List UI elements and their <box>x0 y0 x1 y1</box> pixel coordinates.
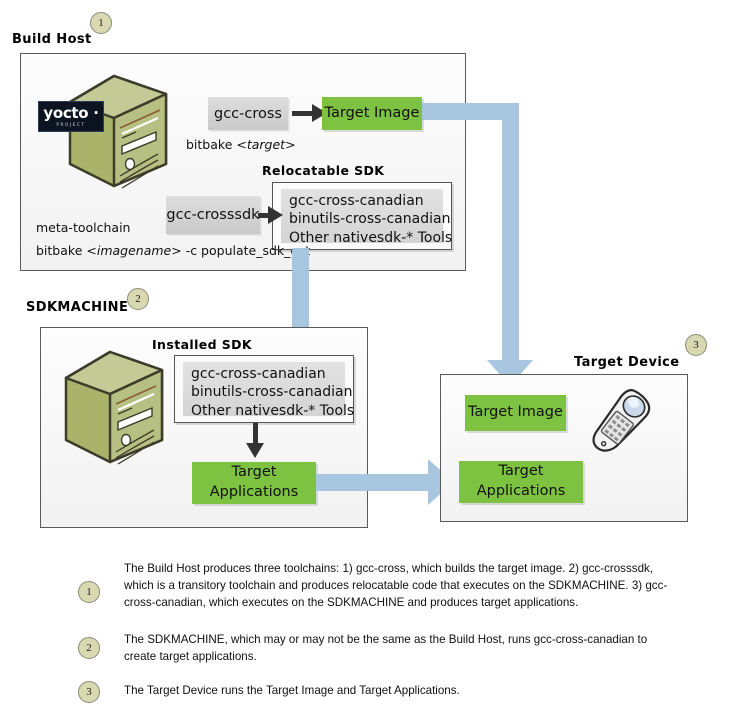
target-image-box-device[interactable]: Target Image <box>465 395 566 431</box>
sdkmachine-badge: 2 <box>127 288 149 310</box>
installed-sdk-line-1: gcc-cross-canadian <box>191 365 337 383</box>
relocatable-sdk-title: Relocatable SDK <box>262 163 384 178</box>
installed-sdk-line-2: binutils-cross-canadian <box>191 383 337 401</box>
target-applications-sdkmachine-line2: Applications <box>210 483 299 503</box>
installed-sdk-title: Installed SDK <box>152 337 252 352</box>
bitbake-sdk-italic: <imagename> <box>86 243 181 258</box>
sdkmachine-title: SDKMACHINE <box>26 300 128 315</box>
note-badge-3: 3 <box>78 681 100 703</box>
diagram-canvas: Build Host 1 yocto · PROJECT gcc-cross T… <box>0 0 730 723</box>
bitbake-sdk-label: bitbake <imagename> -c populate_sdk_ext <box>36 243 310 258</box>
bitbake-sdk-prefix: bitbake <box>36 243 86 258</box>
bitbake-target-prefix: bitbake <box>186 137 236 152</box>
bitbake-target-label: bitbake <target> <box>186 137 296 152</box>
arrow-installed-sdk-head <box>246 443 264 458</box>
target-device-badge: 3 <box>685 334 707 356</box>
build-host-badge: 1 <box>90 12 112 34</box>
mobile-phone-icon <box>578 386 662 466</box>
yocto-project-logo: yocto · PROJECT <box>38 101 104 132</box>
target-image-box-build-host[interactable]: Target Image <box>322 97 422 130</box>
blue-arrow-target-apps-shaft <box>316 474 431 491</box>
note-text-3: The Target Device runs the Target Image … <box>124 683 670 700</box>
target-device-title: Target Device <box>574 355 680 370</box>
note-badge-1: 1 <box>78 581 100 603</box>
yocto-logo-main: yocto · <box>43 106 98 121</box>
build-host-title: Build Host <box>12 32 92 47</box>
arrow-gcc-crosssdk-head <box>268 206 283 224</box>
note-badge-2: 2 <box>78 637 100 659</box>
gcc-cross-box[interactable]: gcc-cross <box>208 97 288 130</box>
target-applications-box-device[interactable]: Target Applications <box>459 461 583 503</box>
server-tower-icon-sdkmachine <box>58 348 170 466</box>
target-applications-device-line1: Target <box>499 462 544 482</box>
bitbake-sdk-suffix: -c populate_sdk_ext <box>182 243 310 258</box>
arrow-gcc-cross-shaft <box>292 111 314 116</box>
gcc-crosssdk-box[interactable]: gcc-crosssdk <box>166 196 260 234</box>
bitbake-target-italic: <target> <box>236 137 295 152</box>
relocatable-sdk-line-2: binutils-cross-canadian <box>289 210 435 228</box>
meta-toolchain-label: meta-toolchain <box>36 220 130 235</box>
target-applications-sdkmachine-line1: Target <box>232 463 277 483</box>
blue-arrow-target-image-vertical <box>502 103 519 363</box>
yocto-logo-sub: PROJECT <box>56 123 85 127</box>
relocatable-sdk-list: gcc-cross-canadian binutils-cross-canadi… <box>281 189 443 243</box>
installed-sdk-line-3: Other nativesdk-* Tools <box>191 402 337 420</box>
installed-sdk-list: gcc-cross-canadian binutils-cross-canadi… <box>183 362 345 416</box>
relocatable-sdk-line-3: Other nativesdk-* Tools <box>289 229 435 247</box>
target-applications-box-sdkmachine[interactable]: Target Applications <box>192 462 316 504</box>
note-text-2: The SDKMACHINE, which may or may not be … <box>124 632 670 666</box>
relocatable-sdk-line-1: gcc-cross-canadian <box>289 192 435 210</box>
note-text-1: The Build Host produces three toolchains… <box>124 561 670 611</box>
target-applications-device-line2: Applications <box>477 482 566 502</box>
blue-arrow-sdk-vertical <box>292 248 309 338</box>
